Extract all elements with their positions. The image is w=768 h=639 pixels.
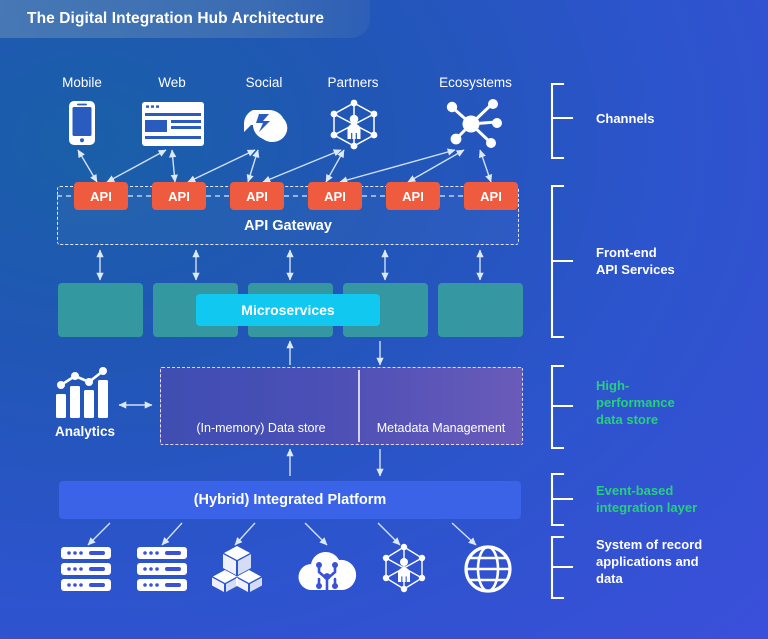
microservices-badge[interactable]: Microservices — [196, 294, 380, 326]
section-label-channels: Channels — [596, 110, 655, 127]
integrated-platform-box[interactable]: (Hybrid) Integrated Platform — [59, 481, 521, 519]
api-box[interactable]: API — [464, 182, 518, 210]
page-title: The Digital Integration Hub Architecture — [0, 10, 324, 28]
data-store-divider — [358, 370, 360, 442]
section-label-event-based-integration-layer: Event-based integration layer — [596, 482, 697, 516]
cloud-circuit-icon — [298, 548, 356, 592]
diagram-canvas: The Digital Integration Hub Architecture — [0, 0, 768, 639]
analytics-label: Analytics — [40, 424, 130, 439]
api-box[interactable]: API — [152, 182, 206, 210]
section-label-system-of-record: System of record applications and data — [596, 536, 702, 587]
globe-icon — [464, 545, 512, 593]
api-box[interactable]: API — [74, 182, 128, 210]
channel-label-mobile: Mobile — [42, 75, 122, 90]
microservice-box[interactable] — [438, 283, 523, 337]
bar-chart-trendline-icon — [52, 368, 118, 418]
hexagon-network-person-icon — [325, 98, 383, 150]
api-box[interactable]: API — [308, 182, 362, 210]
section-label-high-performance-data-store: High- performance data store — [596, 377, 675, 428]
server-rack-icon — [136, 546, 188, 592]
cubes-3d-icon — [212, 545, 262, 593]
api-gateway-title: API Gateway — [57, 218, 519, 234]
hexagon-network-person-icon — [378, 543, 430, 593]
section-label-frontend-api-services: Front-end API Services — [596, 244, 675, 278]
server-rack-icon — [60, 546, 112, 592]
channel-label-social: Social — [224, 75, 304, 90]
api-box[interactable]: API — [386, 182, 440, 210]
channel-label-partners: Partners — [313, 75, 393, 90]
microservice-box[interactable] — [58, 283, 143, 337]
mobile-phone-icon — [64, 100, 100, 146]
api-box[interactable]: API — [230, 182, 284, 210]
data-store-caption: (In-memory) Data store — [166, 421, 356, 435]
title-banner: The Digital Integration Hub Architecture — [0, 0, 370, 38]
channel-label-web: Web — [132, 75, 212, 90]
browser-window-icon — [142, 102, 204, 146]
channel-label-ecosystems: Ecosystems — [428, 75, 523, 90]
chat-bubbles-icon — [236, 100, 294, 148]
hub-spoke-network-icon — [443, 98, 503, 150]
metadata-management-caption: Metadata Management — [362, 421, 520, 435]
